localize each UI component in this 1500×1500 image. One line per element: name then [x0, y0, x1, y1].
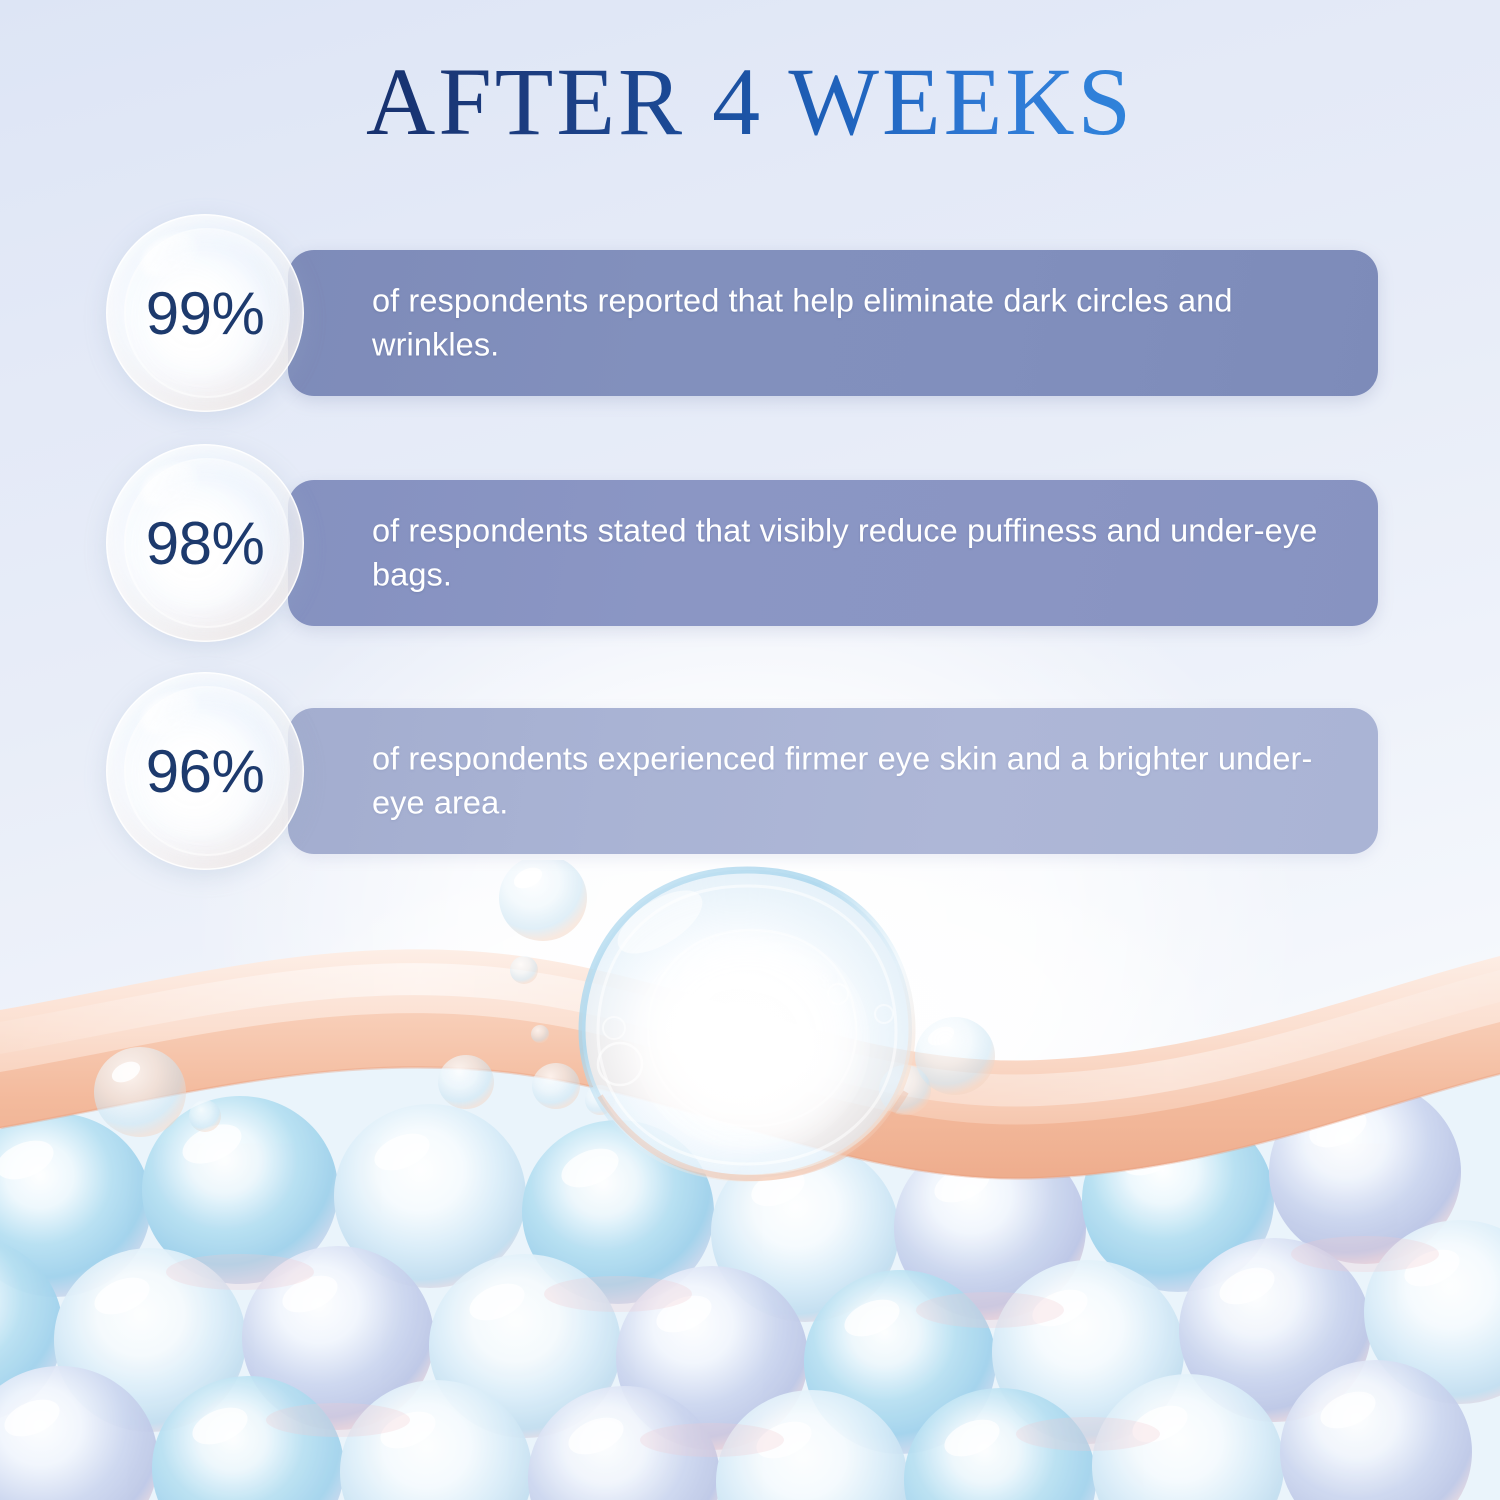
stat-description: of respondents experienced firmer eye sk…	[372, 737, 1324, 824]
stat-description: of respondents stated that visibly reduc…	[372, 509, 1324, 596]
stat-row: of respondents experienced firmer eye sk…	[0, 708, 1500, 856]
stat-bar: of respondents stated that visibly reduc…	[288, 480, 1378, 626]
bubble-sphere-icon: 96%	[106, 672, 304, 870]
stat-description: of respondents reported that help elimin…	[372, 279, 1324, 366]
stat-percent: 99%	[106, 214, 304, 412]
bubble-sphere-icon: 99%	[106, 214, 304, 412]
infographic-poster: AFTER 4 WEEKS	[0, 0, 1500, 1500]
stat-bar: of respondents experienced firmer eye sk…	[288, 708, 1378, 854]
stat-bar: of respondents reported that help elimin…	[288, 250, 1378, 396]
stat-row: of respondents reported that help elimin…	[0, 250, 1500, 398]
stat-percent: 98%	[106, 444, 304, 642]
bubble-sphere-icon: 98%	[106, 444, 304, 642]
stat-row: of respondents stated that visibly reduc…	[0, 480, 1500, 628]
statistics-list: of respondents reported that help elimin…	[0, 0, 1500, 1500]
stat-percent: 96%	[106, 672, 304, 870]
